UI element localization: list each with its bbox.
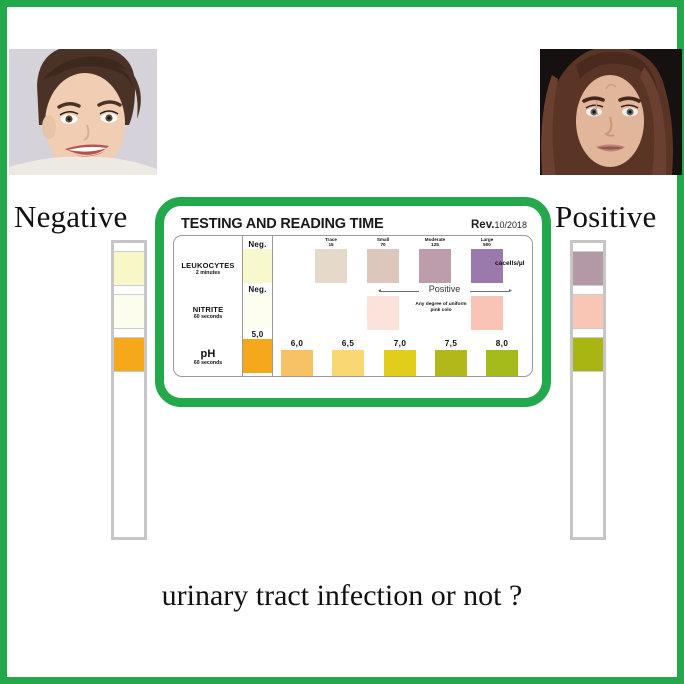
leukocyte-header-2: Moderate125 — [415, 238, 455, 248]
row-label-ph: pH 60 seconds — [174, 348, 242, 367]
chart-header: TESTING AND READING TIME Rev.10/2018 — [173, 214, 533, 235]
question-caption: urinary tract infection or not ? — [7, 579, 677, 613]
caption-positive: Positive — [555, 199, 657, 235]
color-reference-chart: TESTING AND READING TIME Rev.10/2018 LEU… — [155, 197, 551, 407]
row-label-nitrite: NITRITE 60 seconds — [174, 306, 242, 321]
row-label-leukocytes: LEUKOCYTES 2 minutes — [174, 262, 242, 277]
chart-revision: Rev.10/2018 — [471, 219, 527, 231]
leukocyte-swatch-2 — [419, 249, 451, 283]
negative-label: Neg. — [243, 285, 272, 294]
ph-label-1: 6,0 — [280, 339, 314, 348]
worried-woman-photo — [540, 49, 682, 175]
row-name: pH — [174, 348, 242, 361]
header-value: 15 — [311, 243, 351, 248]
ph-label-5: 8,0 — [485, 339, 519, 348]
header-value: 500 — [467, 243, 507, 248]
header-value: 125 — [415, 243, 455, 248]
nitrite-swatch-1 — [471, 296, 503, 330]
chart-revision-prefix: Rev. — [471, 219, 494, 231]
strip-pad-leukocytes — [114, 251, 144, 286]
poster-root: Negative Positive TESTING AND READING TI… — [0, 0, 684, 684]
negative-label: Neg. — [243, 240, 272, 249]
positive-label: Positive — [377, 284, 512, 294]
negative-label: 5,0 — [243, 330, 272, 339]
test-strip-positive — [570, 240, 606, 540]
ph-label-2: 6,5 — [331, 339, 365, 348]
ph-label-3: 7,0 — [383, 339, 417, 348]
strip-pad-leukocytes — [573, 251, 603, 286]
chart-title: TESTING AND READING TIME — [181, 216, 384, 232]
leukocyte-swatch-1 — [367, 249, 399, 283]
leukocyte-swatch-0 — [315, 249, 347, 283]
leukocyte-header-1: Small70 — [363, 238, 403, 248]
grid-divider-right — [272, 236, 273, 376]
test-strip-negative — [111, 240, 147, 540]
nitrite-swatch-0 — [367, 296, 399, 330]
leukocyte-header-0: Trace15 — [311, 238, 351, 248]
caption-negative: Negative — [14, 199, 128, 235]
header-value: 70 — [363, 243, 403, 248]
strip-pad-ph — [573, 337, 603, 372]
ph-swatch-4 — [435, 350, 467, 377]
ph-label-4: 7,5 — [434, 339, 468, 348]
negative-cell-nitrite: Neg. — [243, 285, 272, 328]
ph-swatch-5 — [486, 350, 518, 377]
negative-swatch — [243, 294, 272, 328]
negative-swatch — [243, 339, 272, 373]
positive-note: Any degree of uniform pink colo — [410, 302, 472, 314]
positive-range-bracket: ◄ ► Positive — [377, 286, 512, 296]
row-time: 60 seconds — [174, 315, 242, 321]
leukocyte-header-3: Large500 — [467, 238, 507, 248]
ph-swatch-1 — [281, 350, 313, 377]
ph-swatch-2 — [332, 350, 364, 377]
negative-swatch — [243, 249, 272, 283]
smiling-woman-photo — [9, 49, 157, 175]
chart-revision-value: 10/2018 — [494, 220, 527, 230]
row-time: 60 seconds — [174, 361, 242, 367]
strip-pad-nitrite — [114, 294, 144, 329]
strip-pad-ph — [114, 337, 144, 372]
strip-pad-nitrite — [573, 294, 603, 329]
units-label: cacells/µl — [495, 260, 524, 267]
negative-cell-leukocytes: Neg. — [243, 240, 272, 283]
negative-cell-ph: 5,0 — [243, 330, 272, 373]
chart-grid: LEUKOCYTES 2 minutes NITRITE 60 seconds … — [173, 235, 533, 377]
row-time: 2 minutes — [174, 271, 242, 277]
ph-swatch-3 — [384, 350, 416, 377]
